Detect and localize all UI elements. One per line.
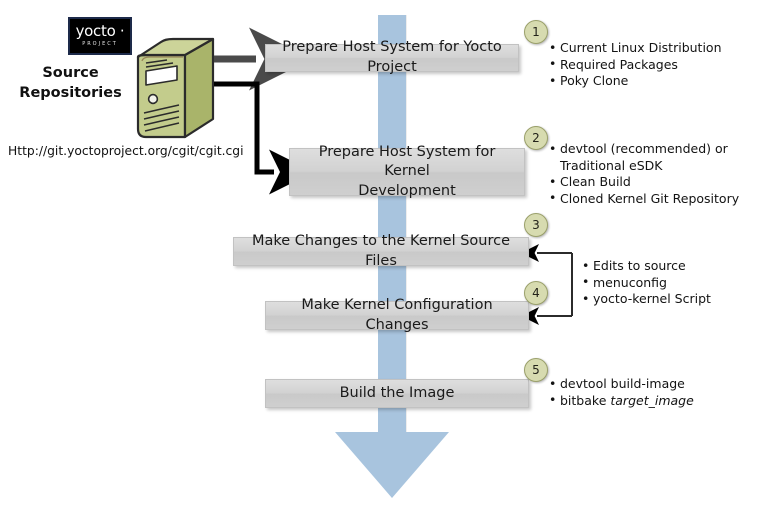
bullet-item: devtool (recommended) or (547, 141, 762, 158)
step-badge-5-number: 5 (532, 363, 540, 377)
process-box-step-5[interactable]: Build the Image (265, 379, 529, 408)
bullet-item-bitbake: bitbake target_image (547, 393, 762, 410)
bullet-list-step-1: Current Linux Distribution Required Pack… (547, 40, 762, 90)
step-badge-3: 3 (524, 213, 548, 237)
process-box-step-3[interactable]: Make Changes to the Kernel Source Files (233, 237, 529, 266)
step-badge-4: 4 (524, 281, 548, 305)
diagram-canvas: yocto · PROJECT Source Re (0, 0, 769, 517)
step-badge-1-number: 1 (532, 25, 540, 39)
source-label-line-1: Source (8, 63, 133, 83)
process-box-step-1[interactable]: Prepare Host System for Yocto Project (265, 44, 519, 72)
step-badge-5: 5 (524, 358, 548, 382)
yocto-project-logo: yocto · PROJECT (68, 17, 132, 55)
bullet-item: Poky Clone (547, 73, 762, 90)
bitbake-command-label: bitbake (560, 393, 610, 408)
blue-flow-spine (378, 15, 406, 433)
bullet-item: Required Packages (547, 57, 762, 74)
bullet-item: devtool build-image (547, 376, 762, 393)
bitbake-target-argument: target_image (610, 393, 693, 408)
process-box-1-line-1: Prepare Host System for Yocto Project (274, 38, 510, 77)
blue-flow-arrowhead (335, 432, 449, 498)
bullet-item: Current Linux Distribution (547, 40, 762, 57)
step-badge-1: 1 (524, 20, 548, 44)
arrow-server-to-step2 (214, 84, 274, 172)
process-box-step-2[interactable]: Prepare Host System for Kernel Developme… (289, 148, 525, 196)
yocto-logo-subtext: PROJECT (82, 40, 118, 48)
source-repositories-label: Source Repositories (8, 63, 133, 103)
yocto-logo-wordmark: yocto · (76, 24, 125, 39)
bullet-item: Edits to source (580, 258, 760, 275)
bullet-list-step-5: devtool build-image bitbake target_image (547, 376, 762, 409)
process-box-step-4[interactable]: Make Kernel Configuration Changes (265, 301, 529, 330)
source-repository-url: Http://git.yoctoproject.org/cgit/cgit.cg… (8, 144, 244, 158)
bullet-item: Clean Build (547, 174, 762, 191)
bullet-item: menuconfig (580, 275, 760, 292)
bullet-item-continuation: Traditional eSDK (547, 158, 762, 175)
process-box-5-line-1: Build the Image (340, 384, 455, 404)
process-box-2-line-2: Development (358, 182, 456, 202)
step-badge-3-number: 3 (532, 218, 540, 232)
bullet-list-step-2: devtool (recommended) or Traditional eSD… (547, 141, 762, 207)
process-box-3-line-1: Make Changes to the Kernel Source Files (242, 232, 520, 271)
step-badge-4-number: 4 (532, 286, 540, 300)
source-label-line-2: Repositories (8, 83, 133, 103)
bullet-item: yocto-kernel Script (580, 291, 760, 308)
process-box-4-line-1: Make Kernel Configuration Changes (274, 296, 520, 335)
bullet-list-steps-3-4: Edits to source menuconfig yocto-kernel … (580, 258, 760, 308)
step-badge-2: 2 (524, 126, 548, 150)
process-box-2-line-1: Prepare Host System for Kernel (298, 143, 516, 182)
bullet-item: Cloned Kernel Git Repository (547, 191, 762, 208)
server-tower-icon (133, 33, 219, 140)
step-badge-2-number: 2 (532, 131, 540, 145)
